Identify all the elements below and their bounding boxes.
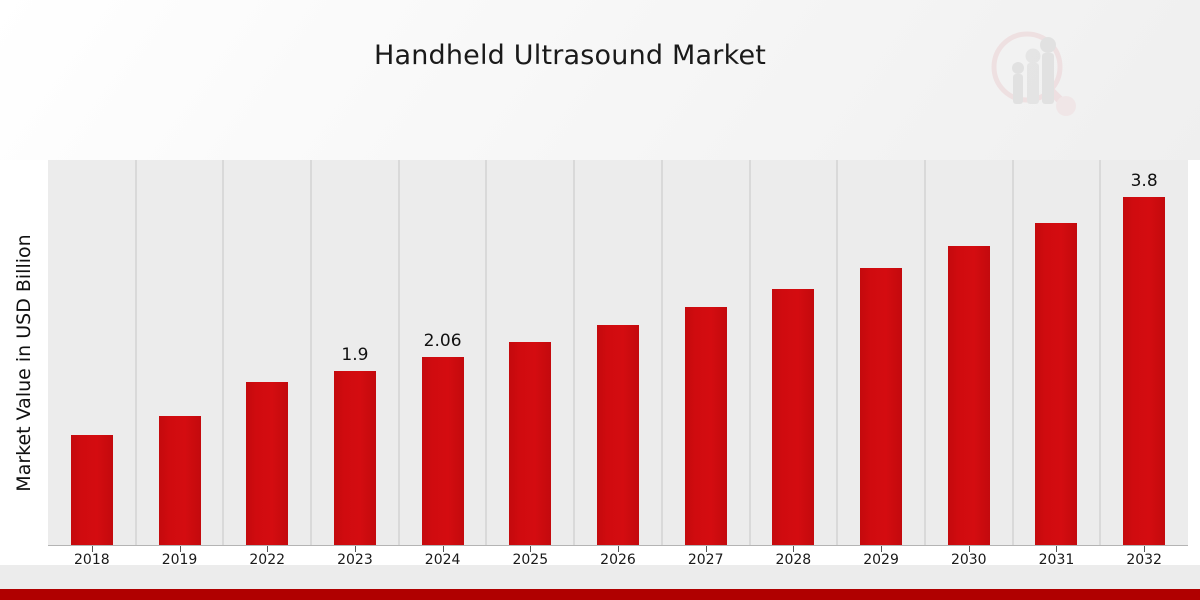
y-axis-label: Market Value in USD Billion bbox=[13, 163, 35, 563]
gridline bbox=[1012, 160, 1014, 546]
gridline bbox=[661, 160, 663, 546]
x-tick-label-2026: 2026 bbox=[573, 552, 663, 568]
plot-area bbox=[48, 160, 1188, 546]
bar-2030 bbox=[948, 246, 990, 546]
x-tick-label-2018: 2018 bbox=[47, 552, 137, 568]
gridline bbox=[573, 160, 575, 546]
bar-value-label-2032: 3.8 bbox=[1099, 171, 1189, 191]
bar-2032 bbox=[1123, 197, 1165, 546]
gridline bbox=[924, 160, 926, 546]
bar-2026 bbox=[597, 325, 639, 546]
gridline bbox=[222, 160, 224, 546]
x-axis-label-band bbox=[0, 565, 1200, 589]
gridline bbox=[135, 160, 137, 546]
bar-2027 bbox=[685, 307, 727, 546]
bar-2029 bbox=[860, 268, 902, 546]
bar-2025 bbox=[509, 342, 551, 546]
footer-strip bbox=[0, 589, 1200, 600]
gridline bbox=[749, 160, 751, 546]
x-tick-label-2023: 2023 bbox=[310, 552, 400, 568]
x-tick-label-2031: 2031 bbox=[1011, 552, 1101, 568]
plot-inner bbox=[48, 160, 1188, 546]
x-tick-label-2027: 2027 bbox=[661, 552, 751, 568]
chart-page: Handheld Ultrasound Market Market Value … bbox=[0, 0, 1200, 600]
gridline bbox=[1099, 160, 1101, 546]
x-tick-label-2025: 2025 bbox=[485, 552, 575, 568]
bar-value-label-2024: 2.06 bbox=[398, 331, 488, 351]
bar-value-label-2023: 1.9 bbox=[310, 345, 400, 365]
bar-2031 bbox=[1035, 223, 1077, 547]
gridline bbox=[485, 160, 487, 546]
x-tick-label-2029: 2029 bbox=[836, 552, 926, 568]
x-tick-label-2028: 2028 bbox=[748, 552, 838, 568]
bar-2023 bbox=[334, 371, 376, 546]
bar-2019 bbox=[159, 416, 201, 546]
gridline bbox=[836, 160, 838, 546]
magnifier-bar-chart-logo-icon bbox=[982, 22, 1082, 122]
x-tick-label-2019: 2019 bbox=[135, 552, 225, 568]
x-tick-label-2032: 2032 bbox=[1099, 552, 1189, 568]
bar-2024 bbox=[422, 357, 464, 546]
x-tick-label-2030: 2030 bbox=[924, 552, 1014, 568]
bar-2018 bbox=[71, 435, 113, 546]
bar-2028 bbox=[772, 289, 814, 546]
bar-2022 bbox=[246, 382, 288, 546]
x-tick-label-2022: 2022 bbox=[222, 552, 312, 568]
x-tick-label-2024: 2024 bbox=[398, 552, 488, 568]
